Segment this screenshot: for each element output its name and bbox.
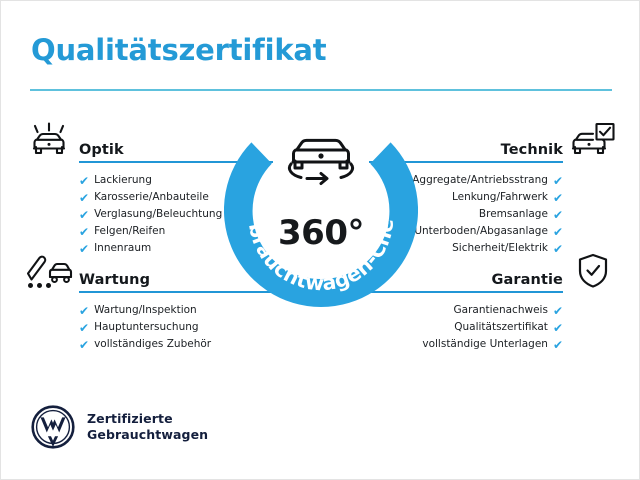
section-wartung-title: Wartung [79, 272, 150, 288]
check-icon: ✔ [553, 192, 563, 204]
check-icon: ✔ [553, 322, 563, 334]
check-icon: ✔ [553, 209, 563, 221]
vw-footer: Zertifizierte Gebrauchtwagen [31, 405, 208, 449]
list-item-label: Wartung/Inspektion [94, 302, 197, 319]
list-item: ✔Hauptuntersuchung [79, 319, 273, 336]
car-wrench-icon [25, 251, 73, 291]
list-item-label: Lackierung [94, 172, 152, 189]
vw-footer-line2: Gebrauchtwagen [87, 427, 208, 443]
car-shine-icon [25, 121, 73, 161]
section-garantie-list: Garantienachweis✔ Qualitätszertifikat✔ v… [369, 302, 619, 353]
list-item-label: vollständiges Zubehör [94, 336, 211, 353]
list-item: Qualitätszertifikat✔ [369, 319, 563, 336]
title-divider [30, 89, 612, 91]
list-item-label: Bremsanlage [479, 206, 548, 223]
certificate-page: Qualitätszertifikat [0, 0, 640, 480]
list-item-label: Qualitätszertifikat [454, 319, 548, 336]
check-icon: ✔ [79, 175, 89, 187]
section-wartung-list: ✔Wartung/Inspektion ✔Hauptuntersuchung ✔… [23, 302, 273, 353]
list-item: vollständige Unterlagen✔ [369, 336, 563, 353]
list-item-label: Karosserie/Anbauteile [94, 189, 209, 206]
list-item: ✔vollständiges Zubehör [79, 336, 273, 353]
list-item-label: Verglasung/Beleuchtung [94, 206, 222, 223]
section-technik-title: Technik [501, 142, 563, 158]
check-icon: ✔ [79, 305, 89, 317]
check-icon: ✔ [79, 192, 89, 204]
section-garantie-title: Garantie [492, 272, 563, 288]
car-checkbox-icon [569, 121, 617, 161]
car-rotate-icon [289, 140, 352, 183]
list-item-label: Hauptuntersuchung [94, 319, 199, 336]
check-icon: ✔ [79, 322, 89, 334]
vw-footer-text: Zertifizierte Gebrauchtwagen [87, 411, 208, 443]
list-item-label: Felgen/Reifen [94, 223, 165, 240]
page-title: Qualitätszertifikat [31, 33, 326, 67]
badge-degrees: 360° [224, 213, 418, 253]
list-item-label: Garantienachweis [454, 302, 548, 319]
check-icon: ✔ [553, 175, 563, 187]
badge-360: Gebrauchtwagen-Check [224, 113, 418, 307]
vw-logo [31, 405, 75, 449]
check-icon: ✔ [79, 209, 89, 221]
list-item-label: vollständige Unterlagen [422, 336, 548, 353]
list-item-label: Aggregate/Antriebsstrang [412, 172, 548, 189]
check-icon: ✔ [79, 339, 89, 351]
check-icon: ✔ [79, 226, 89, 238]
list-item-label: Unterboden/Abgasanlage [414, 223, 548, 240]
shield-check-icon [569, 251, 617, 291]
check-icon: ✔ [553, 305, 563, 317]
section-optik-title: Optik [79, 142, 124, 158]
list-item-label: Lenkung/Fahrwerk [452, 189, 548, 206]
check-icon: ✔ [553, 339, 563, 351]
check-icon: ✔ [553, 226, 563, 238]
vw-footer-line1: Zertifizierte [87, 411, 208, 427]
